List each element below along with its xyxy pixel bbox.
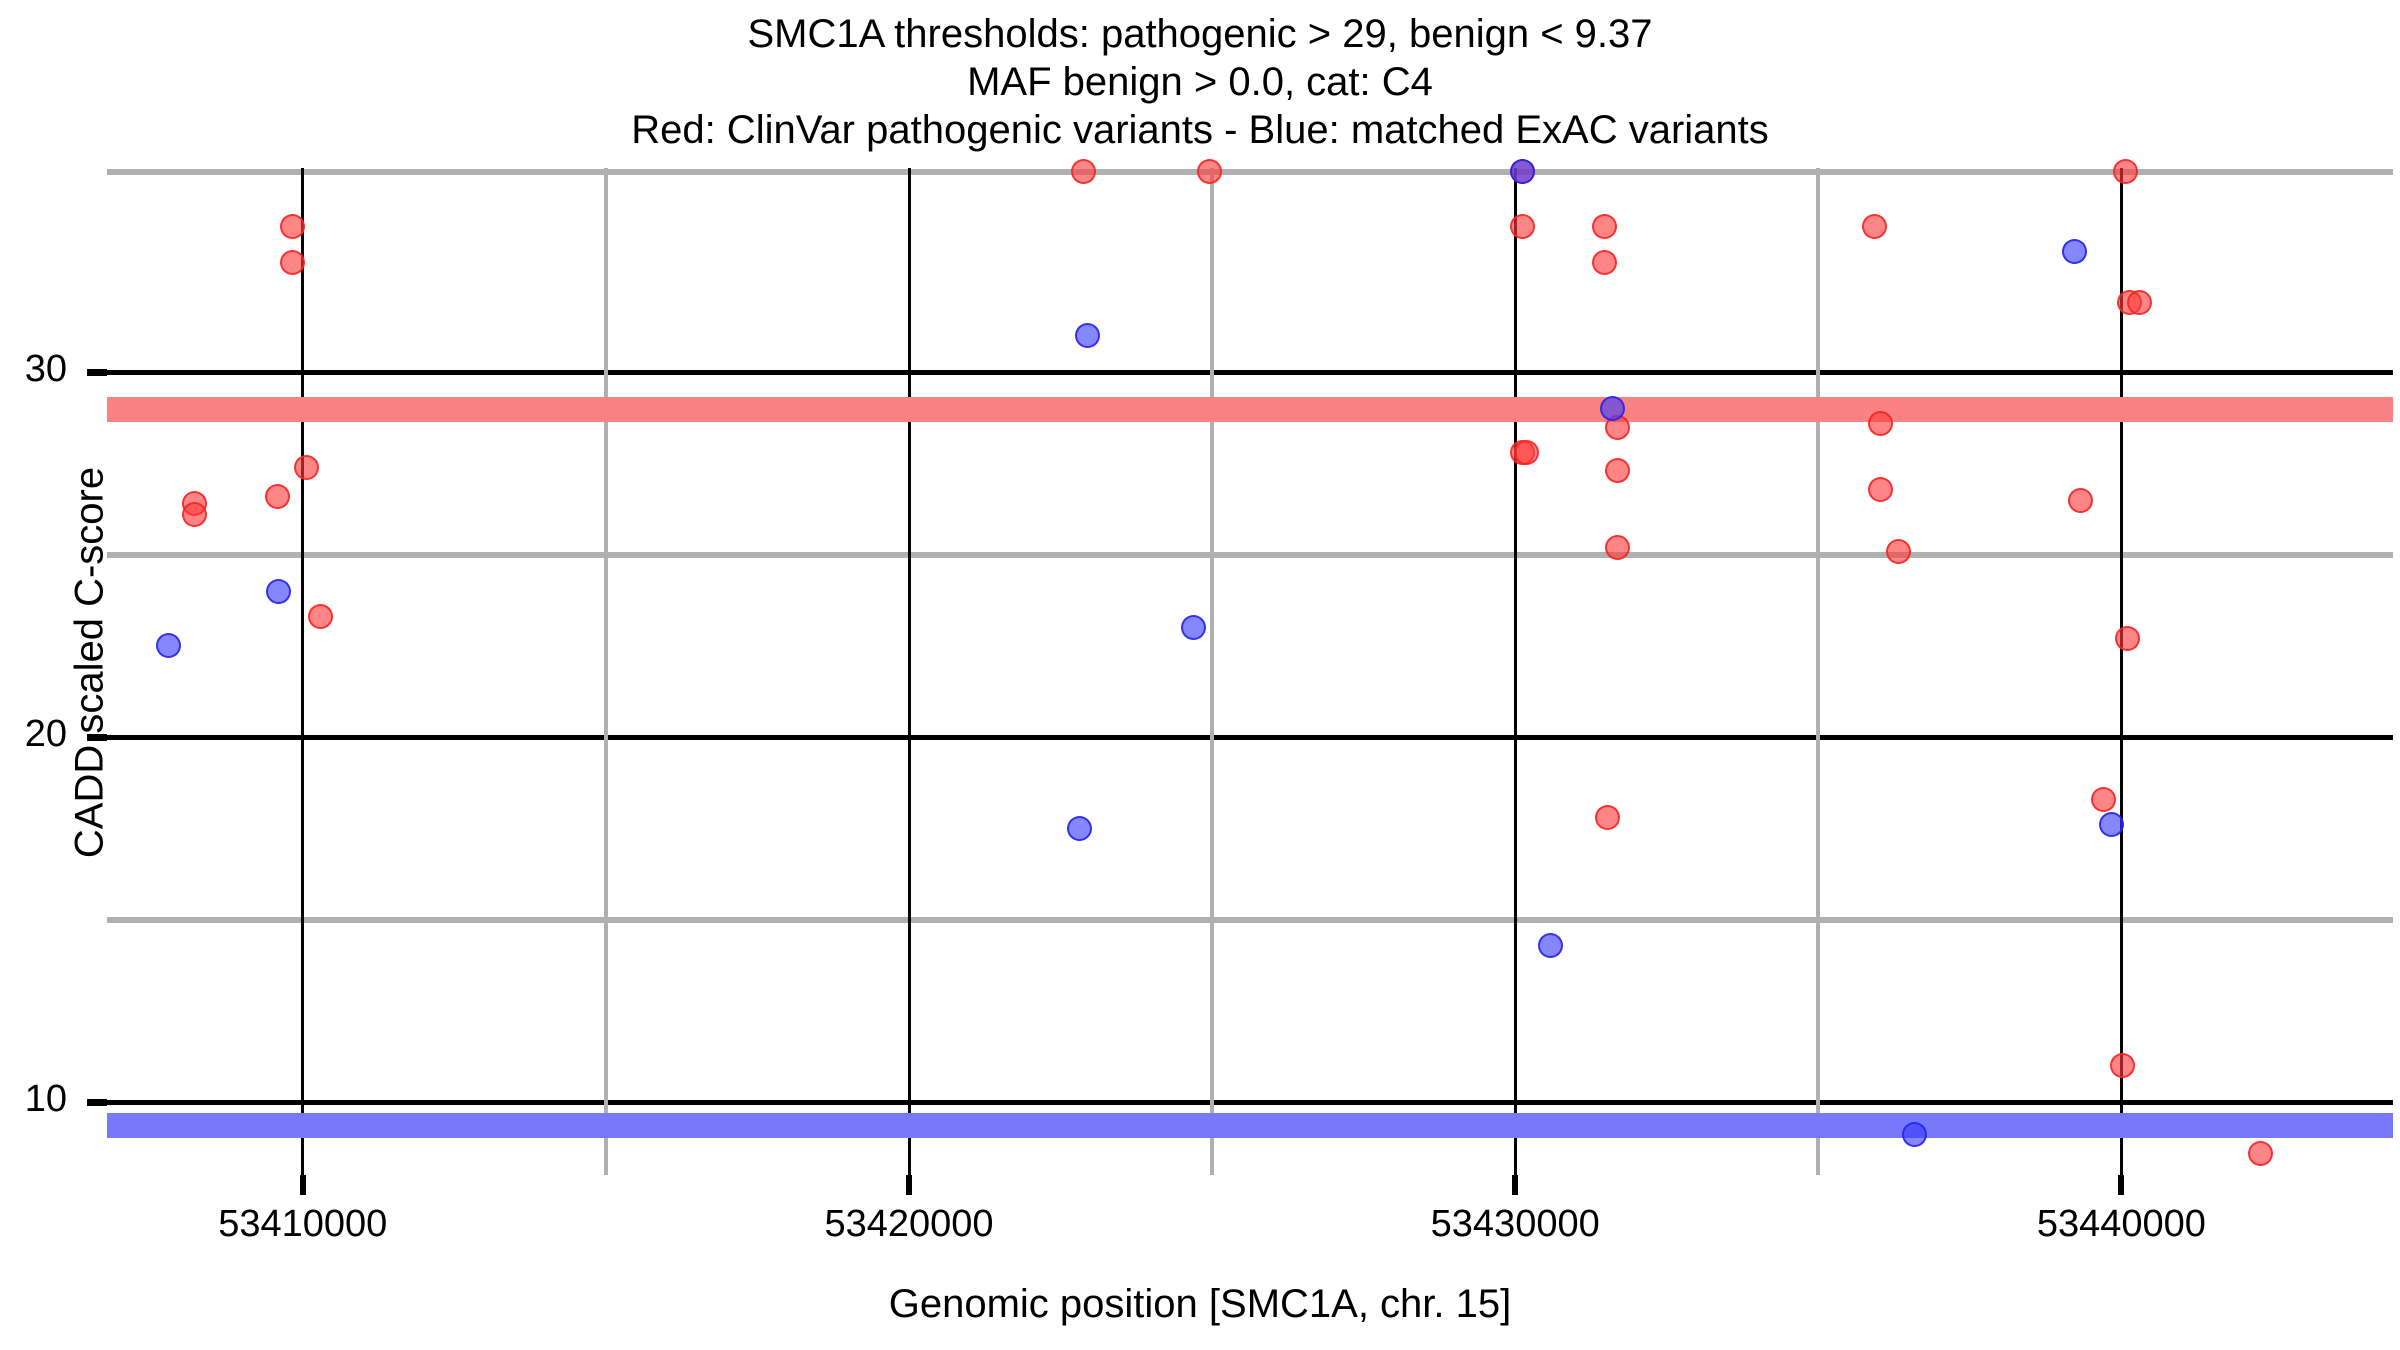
data-point-red xyxy=(1886,539,1911,564)
data-point-red xyxy=(308,604,333,629)
data-point-blue xyxy=(1181,615,1206,640)
data-point-red xyxy=(1592,250,1617,275)
data-point-blue xyxy=(1538,933,1563,958)
data-point-red xyxy=(280,250,305,275)
x-tick-mark xyxy=(906,1175,912,1195)
y-tick-label: 30 xyxy=(0,348,67,391)
x-tick-mark xyxy=(2118,1175,2124,1195)
y-tick-mark xyxy=(87,734,107,741)
y-tick-mark xyxy=(87,1099,107,1106)
data-point-blue xyxy=(2062,239,2087,264)
horizontal-gridline xyxy=(107,552,2393,558)
data-point-red xyxy=(1510,214,1535,239)
x-tick-mark xyxy=(300,1175,306,1195)
data-point-red xyxy=(1595,805,1620,830)
y-tick-label: 10 xyxy=(0,1078,67,1121)
x-axis-tick-line xyxy=(908,168,911,1175)
data-point-red xyxy=(1514,440,1539,465)
threshold-band-benign xyxy=(107,1113,2393,1138)
x-axis-tick-line xyxy=(2120,168,2123,1175)
vertical-gridline xyxy=(1816,168,1820,1175)
y-axis-tick-line xyxy=(107,370,2393,375)
data-point-blue xyxy=(2099,812,2124,837)
plot-area xyxy=(107,168,2393,1175)
scatter-plot-figure: SMC1A thresholds: pathogenic > 29, benig… xyxy=(0,0,2400,1350)
x-tick-label: 53420000 xyxy=(749,1203,1069,1246)
data-point-blue xyxy=(266,579,291,604)
data-point-red xyxy=(280,214,305,239)
y-axis-tick-line xyxy=(107,735,2393,740)
x-tick-mark xyxy=(1512,1175,1518,1195)
data-point-blue xyxy=(1902,1122,1927,1147)
data-point-red xyxy=(1868,477,1893,502)
data-point-red xyxy=(294,455,319,480)
vertical-gridline xyxy=(1210,168,1214,1175)
data-point-blue xyxy=(1067,816,1092,841)
data-point-red xyxy=(1862,214,1887,239)
x-tick-label: 53440000 xyxy=(1961,1203,2281,1246)
y-tick-mark xyxy=(87,369,107,376)
data-point-blue xyxy=(1075,323,1100,348)
data-point-red xyxy=(2110,1053,2135,1078)
data-point-red xyxy=(2113,159,2138,184)
y-axis-label: CADD scaled C-score xyxy=(68,213,113,1113)
horizontal-gridline xyxy=(107,917,2393,923)
data-point-red xyxy=(1197,159,1222,184)
data-point-red xyxy=(2115,626,2140,651)
y-axis-tick-line xyxy=(107,1100,2393,1105)
data-point-blue xyxy=(156,633,181,658)
threshold-band-pathogenic xyxy=(107,397,2393,422)
y-tick-label: 20 xyxy=(0,713,67,756)
x-axis-label: Genomic position [SMC1A, chr. 15] xyxy=(0,1282,2400,1327)
data-point-red xyxy=(1071,159,1096,184)
data-point-red xyxy=(1868,411,1893,436)
data-point-red xyxy=(1592,214,1617,239)
x-tick-label: 53410000 xyxy=(143,1203,463,1246)
x-axis-tick-line xyxy=(301,168,304,1175)
data-point-red xyxy=(265,484,290,509)
chart-title: SMC1A thresholds: pathogenic > 29, benig… xyxy=(0,10,2400,154)
data-point-blue xyxy=(1510,159,1535,184)
chart-title-line-2: MAF benign > 0.0, cat: C4 xyxy=(0,58,2400,106)
chart-title-line-1: SMC1A thresholds: pathogenic > 29, benig… xyxy=(0,10,2400,58)
data-point-red xyxy=(182,502,207,527)
data-point-red xyxy=(2091,787,2116,812)
horizontal-gridline xyxy=(107,169,2393,175)
x-tick-label: 53430000 xyxy=(1355,1203,1675,1246)
data-point-red xyxy=(1605,535,1630,560)
data-point-red xyxy=(2127,290,2152,315)
x-axis-tick-line xyxy=(1514,168,1517,1175)
chart-title-line-3: Red: ClinVar pathogenic variants - Blue:… xyxy=(0,106,2400,154)
data-point-red xyxy=(2068,488,2093,513)
data-point-blue xyxy=(1600,396,1625,421)
data-point-red xyxy=(2248,1141,2273,1166)
data-point-red xyxy=(1605,458,1630,483)
vertical-gridline xyxy=(604,168,608,1175)
